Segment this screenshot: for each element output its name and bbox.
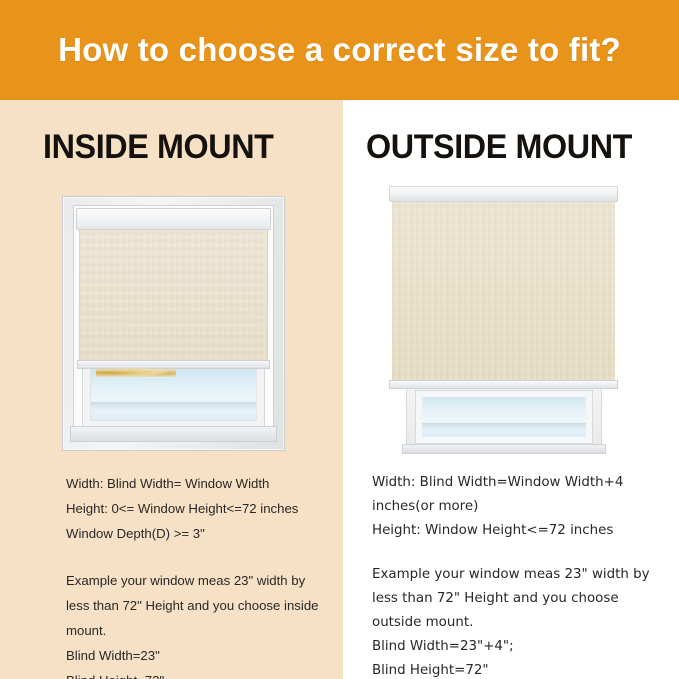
blind-headrail: [389, 186, 618, 202]
inside-mount-panel: INSIDE MOUNT Width: Blind Width= Window …: [0, 100, 343, 679]
window-sill: [70, 426, 277, 442]
header-banner: How to choose a correct size to fit?: [0, 0, 679, 100]
page-title: How to choose a correct size to fit?: [58, 31, 621, 69]
inside-mount-window-illustration: [62, 196, 285, 451]
outside-mount-heading: OUTSIDE MOUNT: [366, 128, 632, 167]
size-guide-infographic: How to choose a correct size to fit? INS…: [0, 0, 679, 679]
gold-ornament-icon: [96, 368, 176, 377]
inside-example-line: Blind Width=23": [66, 643, 328, 668]
text-spacer: [66, 546, 328, 568]
outside-example-line: Example your window meas 23" width by: [372, 563, 654, 587]
outside-spec-line: Height: Window Height<=72 inches: [372, 519, 654, 543]
inside-example-line: less than 72" Height and you choose insi…: [66, 593, 328, 618]
inside-spec-line: Height: 0<= Window Height<=72 inches: [66, 496, 328, 521]
inside-example-line: mount.: [66, 618, 328, 643]
outside-example-line: Blind Width=23"+4";: [372, 635, 654, 659]
outside-spec-line: inches(or more): [372, 495, 654, 519]
inside-example-line: Example your window meas 23" width by: [66, 568, 328, 593]
outside-example-line: Blind Height=72": [372, 659, 654, 679]
blind-fabric: [392, 200, 615, 384]
outside-spec-line: Width: Blind Width=Window Width+4: [372, 471, 654, 495]
inside-mount-text: Width: Blind Width= Window Width Height:…: [66, 471, 328, 679]
outside-mount-text: Width: Blind Width=Window Width+4 inches…: [372, 471, 654, 679]
outside-example-line: outside mount.: [372, 611, 654, 635]
window-glass-sky: [422, 397, 586, 437]
blind-bottom-rail: [389, 380, 618, 389]
outside-mount-panel: OUTSIDE MOUNT Width: Blind Width=Window …: [343, 100, 679, 679]
inside-spec-line: Window Depth(D) >= 3": [66, 521, 328, 546]
inside-mount-heading: INSIDE MOUNT: [43, 128, 274, 167]
blind-valance: [76, 208, 271, 230]
outside-example-line: less than 72" Height and you choose: [372, 587, 654, 611]
window-sill: [402, 444, 606, 454]
blind-fabric: [79, 226, 268, 363]
inside-spec-line: Width: Blind Width= Window Width: [66, 471, 328, 496]
inside-example-line: Blind Height=72": [66, 668, 328, 679]
text-spacer: [372, 543, 654, 563]
outside-mount-window-illustration: [378, 186, 627, 454]
